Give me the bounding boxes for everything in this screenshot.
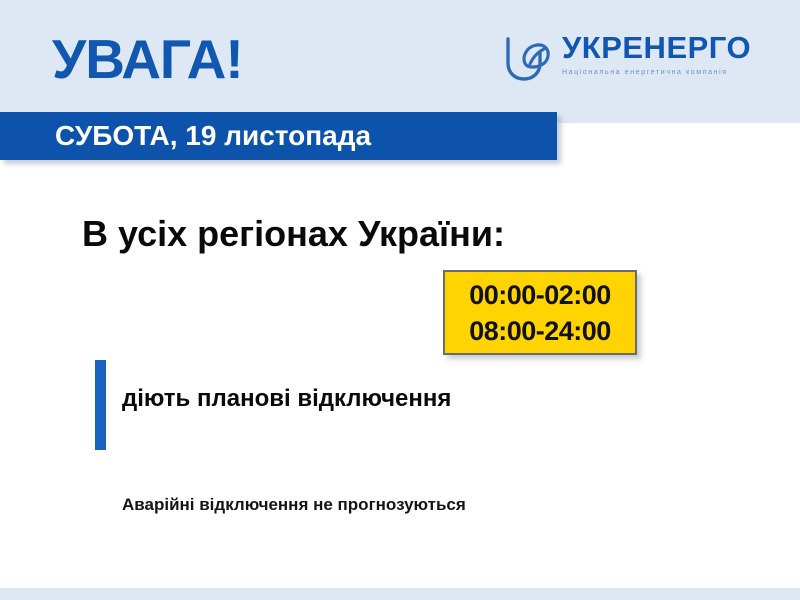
ukrenergo-logo: УКРЕНЕРГО Національна енергетична компан… xyxy=(500,31,770,93)
scheduled-outage-text: діють планові відключення xyxy=(122,384,451,414)
outage-notice-poster: УВАГА! УКРЕНЕРГО Національна енергетична… xyxy=(0,0,800,600)
ukrenergo-leaf-u-logo-icon xyxy=(500,33,558,85)
logo-text-block: УКРЕНЕРГО Національна енергетична компан… xyxy=(562,31,772,77)
date-banner: СУБОТА, 19 листопада xyxy=(0,112,557,160)
emergency-outage-footnote: Аварійні відключення не прогнозуються xyxy=(122,494,466,516)
outage-time-line-1: 00:00-02:00 xyxy=(469,277,611,313)
page-title-attention: УВАГА! xyxy=(52,28,243,90)
date-banner-label: СУБОТА, 19 листопада xyxy=(55,121,371,151)
logo-tagline: Національна енергетична компанія xyxy=(562,68,772,77)
footer-strip xyxy=(0,588,800,600)
outage-time-line-2: 08:00-24:00 xyxy=(469,313,611,349)
region-headline: В усіх регіонах України: xyxy=(82,213,505,255)
logo-wordmark: УКРЕНЕРГО xyxy=(562,31,772,65)
blue-accent-bar xyxy=(95,360,106,450)
outage-time-box: 00:00-02:00 08:00-24:00 xyxy=(443,270,637,355)
